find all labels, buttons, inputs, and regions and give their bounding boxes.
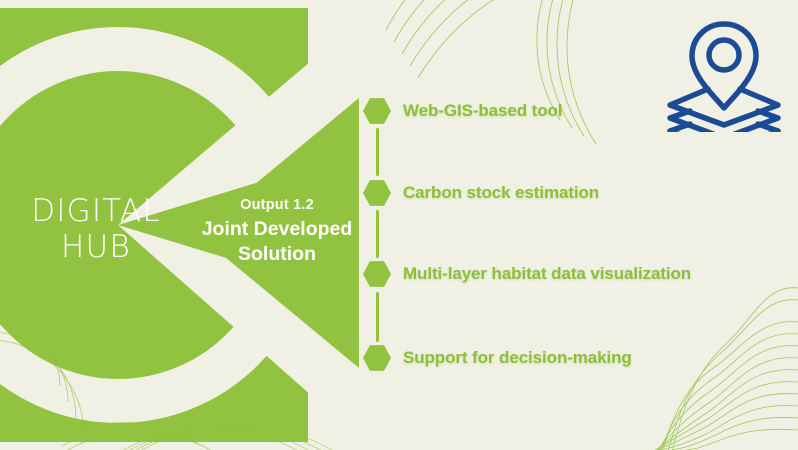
feature-item-label: Support for decision-making: [403, 348, 632, 368]
hexagon-bullet-icon: [363, 260, 391, 288]
digital-hub-label: DIGITAL HUB: [6, 193, 186, 265]
output-kicker: Output 1.2: [196, 196, 358, 215]
hexagon-bullet-icon: [363, 344, 391, 372]
map-pin-layers-icon: [664, 14, 784, 132]
feature-item-1[interactable]: Web-GIS-based tool: [363, 96, 562, 126]
output-title: Joint Developed Solution: [196, 217, 358, 267]
pin-inner-circle: [709, 40, 739, 70]
connector-line-2: [376, 210, 379, 258]
connector-line-1: [376, 128, 379, 176]
infographic-slide: DIGITAL HUB Output 1.2 Joint Developed S…: [0, 0, 798, 450]
connector-line-3: [376, 292, 379, 342]
pin-outline: [692, 24, 756, 108]
feature-item-label: Multi-layer habitat data visualization: [403, 264, 691, 284]
feature-item-3[interactable]: Multi-layer habitat data visualization: [363, 259, 691, 289]
feature-item-4[interactable]: Support for decision-making: [363, 343, 632, 373]
feature-item-label: Web-GIS-based tool: [403, 101, 562, 121]
hexagon-bullet-icon: [363, 97, 391, 125]
hexagon-bullet-icon: [363, 179, 391, 207]
layer-middle: [670, 111, 778, 132]
feature-item-label: Carbon stock estimation: [403, 183, 599, 203]
feature-item-2[interactable]: Carbon stock estimation: [363, 178, 599, 208]
output-block: Output 1.2 Joint Developed Solution: [196, 196, 358, 267]
